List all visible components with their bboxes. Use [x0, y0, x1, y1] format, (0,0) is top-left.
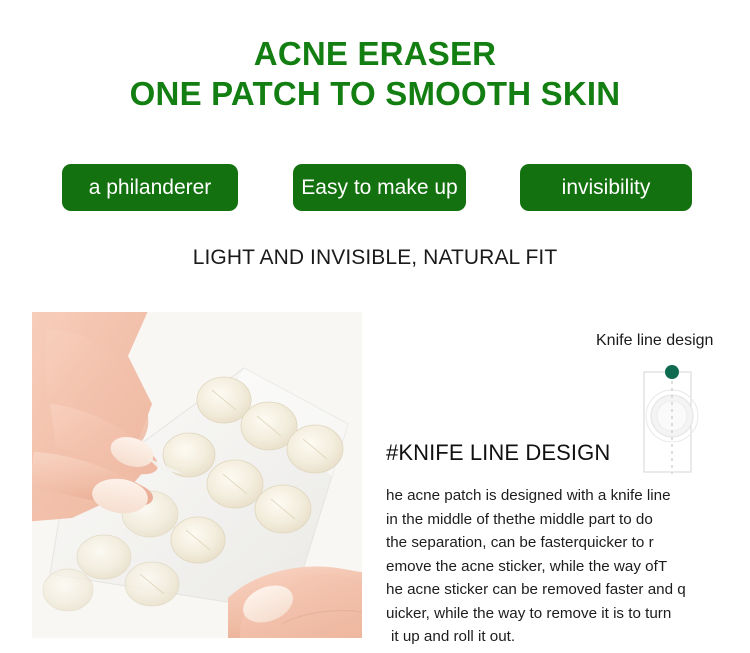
headline-line-2: ONE PATCH TO SMOOTH SKIN [0, 76, 750, 113]
body-line: it up and roll it out. [386, 625, 716, 649]
feature-badge-invisibility[interactable]: invisibility [520, 164, 692, 211]
product-photo [32, 312, 362, 638]
product-photo-illustration [32, 312, 362, 638]
diagram-caption: Knife line design [596, 332, 713, 350]
body-line: in the middle of thethe middle part to d… [386, 508, 716, 532]
feature-badge-easy-to-make-up[interactable]: Easy to make up [293, 164, 466, 211]
headline-line-1: ACNE ERASER [0, 36, 750, 73]
body-line: emove the acne sticker, while the way of… [386, 555, 716, 579]
section-title-knife-line-design: #KNIFE LINE DESIGN [386, 440, 610, 466]
knife-line-diagram [636, 362, 700, 480]
feature-badge-label: Easy to make up [301, 176, 457, 200]
feature-badge-label: a philanderer [89, 176, 212, 200]
body-line: the separation, can be fasterquicker to … [386, 531, 716, 555]
section-body-copy: he acne patch is designed with a knife l… [386, 484, 716, 649]
subtitle: LIGHT AND INVISIBLE, NATURAL FIT [0, 246, 750, 270]
body-line: he acne patch is designed with a knife l… [386, 484, 716, 508]
page-title: ACNE ERASER ONE PATCH TO SMOOTH SKIN [0, 36, 750, 113]
feature-badge-label: invisibility [562, 176, 651, 200]
body-line: he acne sticker can be removed faster an… [386, 578, 716, 602]
body-line: uicker, while the way to remove it is to… [386, 602, 716, 626]
product-detail-page: ACNE ERASER ONE PATCH TO SMOOTH SKIN a p… [0, 0, 750, 653]
feature-badge-row: a philanderer Easy to make up invisibili… [0, 164, 750, 212]
feature-badge-philanderer[interactable]: a philanderer [62, 164, 238, 211]
diagram-green-dot [665, 365, 679, 379]
